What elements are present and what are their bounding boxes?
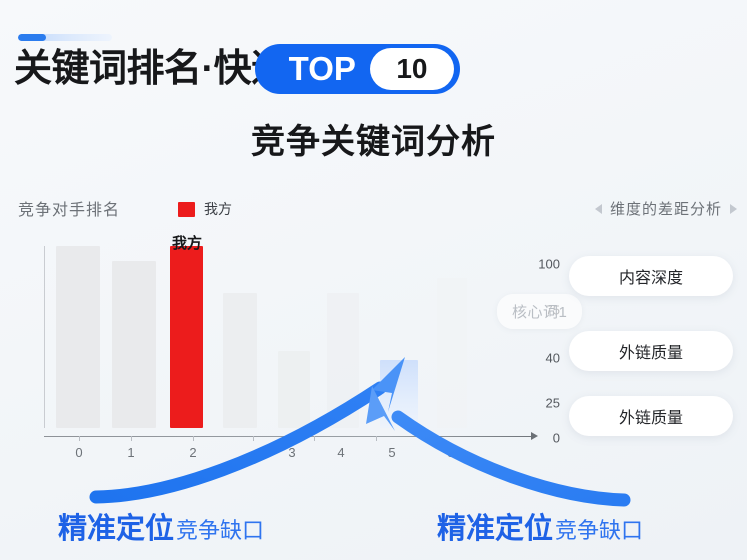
bar-3 <box>223 293 257 428</box>
bar-7 <box>437 278 467 428</box>
bar-2-highlight <box>170 246 203 428</box>
x-tick-label: 2 <box>189 445 196 460</box>
dimension-pill-backlink-quality-2[interactable]: 外链质量 <box>569 396 733 436</box>
bottom-caption-right-big: 精准定位 <box>437 505 553 547</box>
y-tick-label: 100 <box>526 257 560 272</box>
x-tick-label: 4 <box>337 445 344 460</box>
dimension-pill-backlink-quality-1[interactable]: 外链质量 <box>569 331 733 371</box>
chart-legend: 我方 <box>178 199 232 219</box>
bar-4 <box>278 351 310 428</box>
bar-chart: 100 75 40 25 0 0 1 2 3 4 5 5 我方 <box>0 236 560 486</box>
x-tick-label: 5 <box>447 445 454 460</box>
x-tick-label: 0 <box>75 445 82 460</box>
x-tick <box>438 436 439 441</box>
bottom-caption-right: 精准定位 竞争缺口 <box>437 505 643 547</box>
chart-caption-left: 竞争对手排名 <box>18 196 120 220</box>
x-tick <box>131 436 132 441</box>
core-keyword-chip[interactable]: 核心词1 <box>497 294 582 329</box>
x-tick <box>314 436 315 441</box>
triangle-right-icon <box>730 204 737 214</box>
legend-swatch-icon <box>178 202 195 217</box>
page-title: 关键词排名·快速 TOP 10 <box>14 44 460 94</box>
bar-6-target <box>380 360 418 428</box>
x-tick-label: 1 <box>127 445 134 460</box>
bottom-caption-left-small: 竞争缺口 <box>176 513 264 545</box>
x-tick <box>193 436 194 441</box>
bottom-caption-left: 精准定位 竞争缺口 <box>58 505 264 547</box>
bottom-caption-left-big: 精准定位 <box>58 505 174 547</box>
legend-label: 我方 <box>204 199 232 219</box>
top-badge-number: 10 <box>370 48 454 90</box>
bar-highlight-label: 我方 <box>172 232 202 253</box>
x-tick <box>376 436 377 441</box>
top-badge-label: TOP <box>289 50 356 88</box>
right-caption-label: 维度的差距分析 <box>610 198 722 219</box>
x-tick-label: 5 <box>388 445 395 460</box>
sub-headline: 竞争关键词分析 <box>0 114 747 163</box>
title-main-text: 关键词排名·快速 <box>14 50 289 88</box>
bar-0 <box>56 246 100 428</box>
x-axis-line <box>44 436 534 437</box>
top-badge: TOP 10 <box>255 44 460 94</box>
slide-canvas: 关键词排名·快速 TOP 10 竞争关键词分析 竞争对手排名 我方 维度的差距分… <box>0 0 747 560</box>
bar-1 <box>112 261 156 428</box>
x-tick <box>253 436 254 441</box>
bottom-caption-right-small: 竞争缺口 <box>555 513 643 545</box>
y-axis-line <box>44 246 45 428</box>
x-tick <box>79 436 80 441</box>
triangle-left-icon <box>595 204 602 214</box>
y-tick-label: 40 <box>526 351 560 366</box>
y-tick-label: 25 <box>526 396 560 411</box>
bar-5 <box>327 293 359 428</box>
dimension-pill-content-depth[interactable]: 内容深度 <box>569 256 733 296</box>
progress-indicator <box>18 34 112 41</box>
x-tick-label: 3 <box>288 445 295 460</box>
progress-fill <box>18 34 46 41</box>
x-axis-arrow-icon <box>531 432 538 440</box>
chart-caption-right: 维度的差距分析 <box>595 198 737 219</box>
